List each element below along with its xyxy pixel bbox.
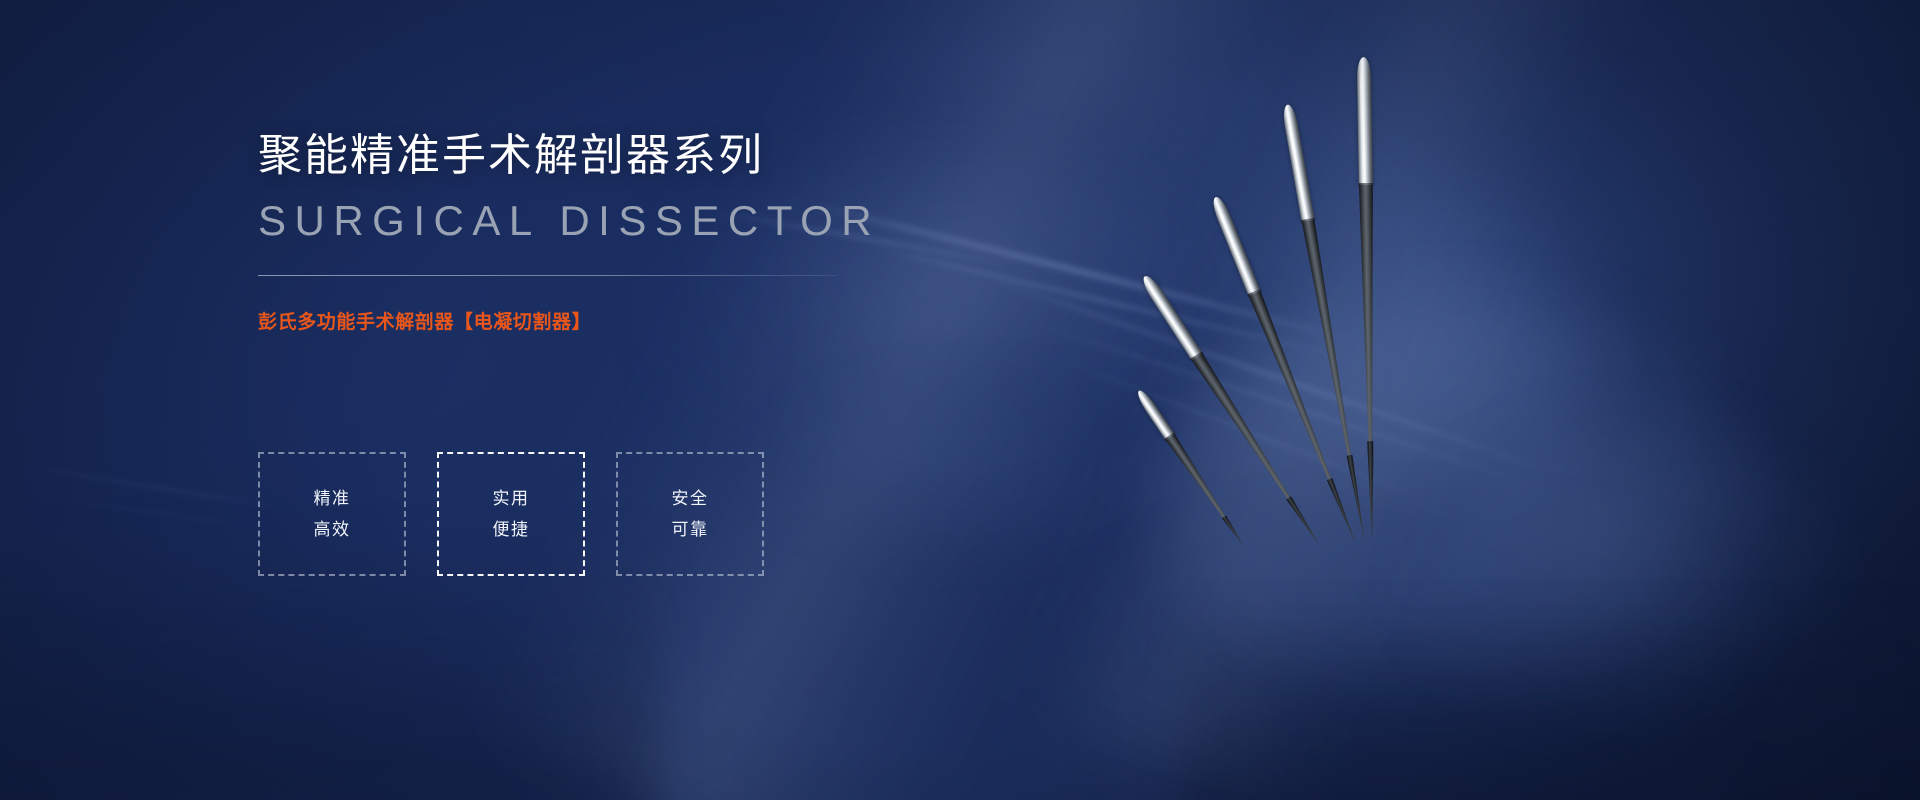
title-divider	[258, 275, 836, 276]
feature-badge-safety[interactable]: 安全 可靠	[616, 452, 764, 576]
feature-line-1: 精准	[314, 486, 351, 512]
feature-line-2: 高效	[314, 517, 351, 543]
feature-line-2: 便捷	[493, 517, 530, 543]
page-subtitle-english: SURGICAL DISSECTOR	[258, 198, 898, 244]
feature-line-1: 安全	[672, 486, 709, 512]
bottom-right-shadow-panel	[1180, 600, 1920, 800]
product-name-label: 彭氏多功能手术解剖器【电凝切割器】	[258, 307, 898, 334]
hero-text-block: 聚能精准手术解剖器系列 SURGICAL DISSECTOR 彭氏多功能手术解剖…	[258, 128, 898, 334]
blurred-tray-shape	[760, 380, 1180, 560]
product-hero-banner: 聚能精准手术解剖器系列 SURGICAL DISSECTOR 彭氏多功能手术解剖…	[0, 0, 1920, 800]
feature-badge-list: 精准 高效 实用 便捷 安全 可靠	[258, 452, 764, 576]
feature-badge-practical[interactable]: 实用 便捷	[437, 452, 585, 576]
feature-line-2: 可靠	[672, 517, 709, 543]
feature-line-1: 实用	[493, 486, 530, 512]
feature-badge-precision[interactable]: 精准 高效	[258, 452, 406, 576]
page-title: 聚能精准手术解剖器系列	[258, 128, 898, 184]
